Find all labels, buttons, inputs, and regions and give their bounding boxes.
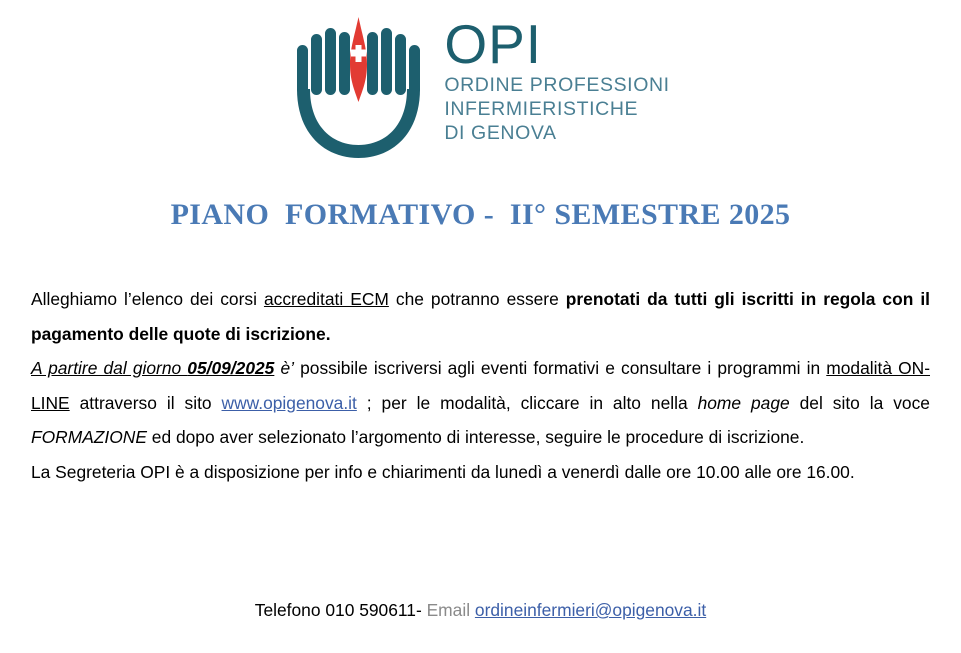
logo-subtitle-line3: DI GENOVA [444, 122, 669, 144]
opi-hands-flame-logo-icon [291, 14, 426, 159]
email-label: Email [427, 600, 475, 620]
page-title: PIANO FORMATIVO - II° SEMESTRE 2025 [0, 198, 961, 232]
p2-seg6: attraverso il sito [70, 393, 222, 413]
paragraph-3: La Segreteria OPI è a disposizione per i… [31, 455, 930, 490]
p2-home-page: home page [698, 393, 790, 413]
p1-accreditati-ecm: accreditati ECM [264, 289, 389, 309]
contact-footer: Telefono 010 590611- Email ordineinfermi… [0, 600, 961, 621]
document-page: OPI ORDINE PROFESSIONI INFERMIERISTICHE … [0, 0, 961, 653]
p2-formazione: FORMAZIONE [31, 427, 147, 447]
opi-logo-block: OPI ORDINE PROFESSIONI INFERMIERISTICHE … [0, 12, 961, 159]
logo-inner: OPI ORDINE PROFESSIONI INFERMIERISTICHE … [291, 12, 669, 159]
p2-seg3: è’ [274, 358, 294, 378]
p1-seg3: che potranno essere [389, 289, 566, 309]
phone-text: Telefono 010 590611- [255, 600, 427, 620]
logo-subtitle-line1: ORDINE PROFESSIONI [444, 74, 669, 96]
logo-subtitle-line2: INFERMIERISTICHE [444, 98, 669, 120]
document-body: Alleghiamo l’elenco dei corsi accreditat… [31, 282, 930, 489]
email-link[interactable]: ordineinfermieri@opigenova.it [475, 600, 706, 620]
paragraph-2: A partire dal giorno 05/09/2025 è’ possi… [31, 351, 930, 455]
p2-seg12: ed dopo aver selezionato l’argomento di … [147, 427, 804, 447]
p1-seg1: Alleghiamo l’elenco dei corsi [31, 289, 264, 309]
p2-date: 05/09/2025 [187, 358, 274, 378]
website-link[interactable]: www.opigenova.it [222, 393, 357, 413]
paragraph-1: Alleghiamo l’elenco dei corsi accreditat… [31, 282, 930, 351]
p2-seg4: possibile iscriversi agli eventi formati… [294, 358, 826, 378]
p2-seg10: del sito la voce [790, 393, 930, 413]
p2-seg8: ; per le modalità, cliccare in alto nell… [357, 393, 698, 413]
logo-wordmark: OPI ORDINE PROFESSIONI INFERMIERISTICHE … [444, 12, 669, 144]
p2-a-partire-dal-giorno: A partire dal giorno [31, 358, 187, 378]
logo-acronym: OPI [444, 16, 669, 72]
